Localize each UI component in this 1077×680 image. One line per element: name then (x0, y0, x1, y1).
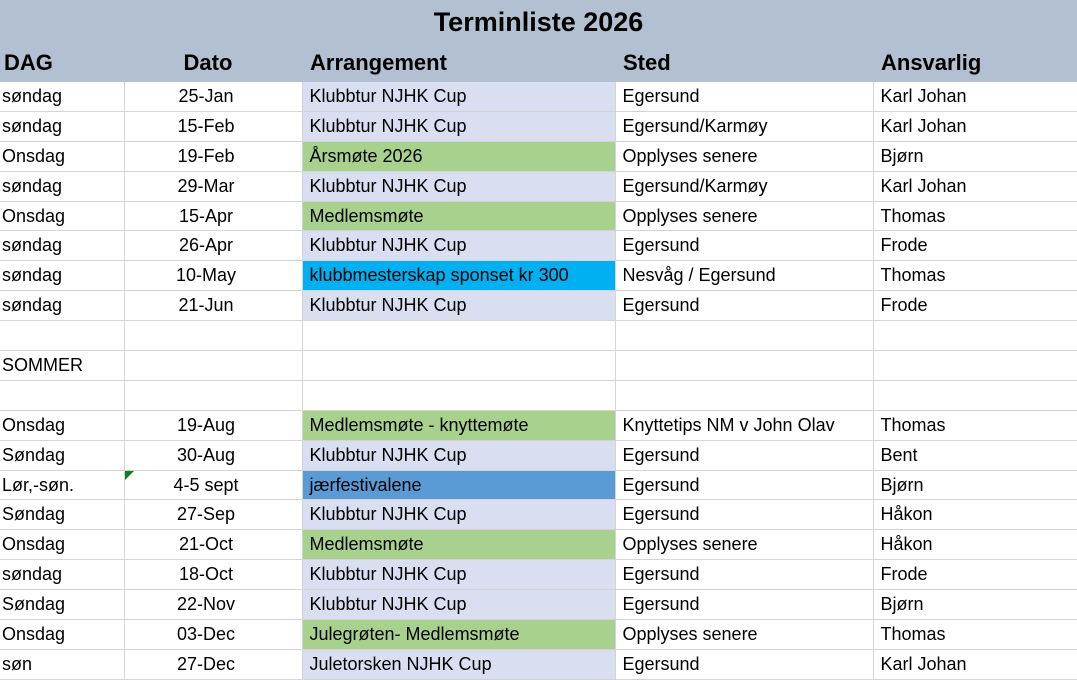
cell-arrangement[interactable]: Medlemsmøte (302, 530, 615, 560)
cell-dag[interactable]: søn (0, 649, 124, 679)
column-header-row: DAG Dato Arrangement Sted Ansvarlig (0, 46, 1077, 82)
table-row[interactable]: Onsdag19-AugMedlemsmøte - knyttemøteKnyt… (0, 410, 1077, 440)
cell-dato[interactable]: 30-Aug (124, 440, 302, 470)
table-row[interactable]: SOMMER (0, 351, 1077, 381)
column-header-ansvarlig[interactable]: Ansvarlig (873, 46, 1077, 82)
cell-ansvarlig[interactable]: Håkon (873, 500, 1077, 530)
cell-dag[interactable]: SOMMER (0, 351, 124, 381)
page-title: Terminliste 2026 (0, 0, 1077, 46)
table-row[interactable]: søndag21-JunKlubbtur NJHK CupEgersundFro… (0, 291, 1077, 321)
cell-dato[interactable]: 15-Apr (124, 201, 302, 231)
cell-dag[interactable]: Søndag (0, 500, 124, 530)
cell-dato[interactable]: 29-Mar (124, 171, 302, 201)
cell-sted[interactable]: Opplyses senere (615, 530, 873, 560)
column-header-dag[interactable]: DAG (0, 46, 124, 82)
cell-arrangement[interactable]: Medlemsmøte - knyttemøte (302, 410, 615, 440)
column-header-dato[interactable]: Dato (124, 46, 302, 82)
cell-dato[interactable]: 15-Feb (124, 111, 302, 141)
cell-dato[interactable]: 10-May (124, 261, 302, 291)
cell-ansvarlig[interactable]: Thomas (873, 261, 1077, 291)
cell-ansvarlig[interactable]: Håkon (873, 530, 1077, 560)
cell-sted[interactable] (615, 321, 873, 351)
cell-dag[interactable]: søndag (0, 231, 124, 261)
cell-dag[interactable]: søndag (0, 560, 124, 590)
cell-dag[interactable]: Onsdag (0, 410, 124, 440)
cell-dag[interactable]: Søndag (0, 590, 124, 620)
cell-sted[interactable]: Opplyses senere (615, 201, 873, 231)
cell-dato[interactable]: 19-Aug (124, 410, 302, 440)
table-row[interactable]: Søndag22-NovKlubbtur NJHK CupEgersundBjø… (0, 590, 1077, 620)
cell-ansvarlig[interactable]: Thomas (873, 201, 1077, 231)
cell-dato[interactable] (124, 351, 302, 381)
cell-sted[interactable]: Egersund (615, 231, 873, 261)
cell-dato[interactable]: 21-Jun (124, 291, 302, 321)
table-row[interactable]: Søndag30-AugKlubbtur NJHK CupEgersundBen… (0, 440, 1077, 470)
table-row[interactable]: Onsdag15-AprMedlemsmøteOpplyses senereTh… (0, 201, 1077, 231)
cell-arrangement[interactable]: Klubbtur NJHK Cup (302, 231, 615, 261)
column-header-sted[interactable]: Sted (615, 46, 873, 82)
cell-ansvarlig[interactable]: Thomas (873, 620, 1077, 650)
cell-arrangement[interactable]: Medlemsmøte (302, 201, 615, 231)
table-row[interactable]: Onsdag19-FebÅrsmøte 2026Opplyses senereB… (0, 141, 1077, 171)
cell-arrangement[interactable]: klubbmesterskap sponset kr 300 (302, 261, 615, 291)
cell-sted[interactable]: Egersund/Karmøy (615, 171, 873, 201)
cell-ansvarlig[interactable]: Bent (873, 440, 1077, 470)
cell-sted[interactable]: Egersund (615, 291, 873, 321)
cell-dag[interactable]: søndag (0, 291, 124, 321)
cell-sted[interactable] (615, 380, 873, 410)
table-row[interactable]: Søndag27-SepKlubbtur NJHK CupEgersundHåk… (0, 500, 1077, 530)
cell-arrangement[interactable]: Juletorsken NJHK Cup (302, 649, 615, 679)
cell-dato[interactable]: 26-Apr (124, 231, 302, 261)
cell-dato[interactable]: 19-Feb (124, 141, 302, 171)
cell-ansvarlig[interactable]: Bjørn (873, 590, 1077, 620)
cell-dag[interactable] (0, 321, 124, 351)
cell-dag[interactable]: søndag (0, 111, 124, 141)
cell-dato[interactable]: 22-Nov (124, 590, 302, 620)
table-row[interactable]: søn27-DecJuletorsken NJHK CupEgersundKar… (0, 649, 1077, 679)
cell-sted[interactable]: Opplyses senere (615, 620, 873, 650)
cell-arrangement[interactable]: jærfestivalene (302, 470, 615, 500)
spreadsheet-sheet: Terminliste 2026 DAG Dato Arrangement St… (0, 0, 1077, 658)
cell-arrangement[interactable]: Årsmøte 2026 (302, 141, 615, 171)
cell-sted[interactable] (615, 351, 873, 381)
cell-dato[interactable]: 27-Sep (124, 500, 302, 530)
cell-ansvarlig[interactable] (873, 351, 1077, 381)
table-row[interactable]: Onsdag03-DecJulegrøten- MedlemsmøteOpply… (0, 620, 1077, 650)
cell-sted[interactable]: Opplyses senere (615, 141, 873, 171)
cell-dato[interactable] (124, 380, 302, 410)
cell-dato[interactable]: 21-Oct (124, 530, 302, 560)
cell-arrangement[interactable]: Klubbtur NJHK Cup (302, 171, 615, 201)
table-row[interactable]: Lør,-søn.4-5 septjærfestivaleneEgersundB… (0, 470, 1077, 500)
cell-sted[interactable]: Egersund (615, 500, 873, 530)
cell-dag[interactable]: søndag (0, 261, 124, 291)
comment-marker-icon (125, 471, 134, 480)
cell-arrangement[interactable] (302, 351, 615, 381)
cell-sted[interactable]: Egersund (615, 82, 873, 111)
table-row[interactable]: søndag26-AprKlubbtur NJHK CupEgersundFro… (0, 231, 1077, 261)
cell-arrangement[interactable]: Julegrøten- Medlemsmøte (302, 620, 615, 650)
cell-dato[interactable]: 25-Jan (124, 82, 302, 111)
cell-sted[interactable]: Egersund (615, 649, 873, 679)
table-row[interactable]: søndag15-FebKlubbtur NJHK CupEgersund/Ka… (0, 111, 1077, 141)
cell-ansvarlig[interactable]: Bjørn (873, 470, 1077, 500)
cell-ansvarlig[interactable]: Thomas (873, 410, 1077, 440)
cell-ansvarlig[interactable]: Frode (873, 291, 1077, 321)
cell-dag[interactable]: Lør,-søn. (0, 470, 124, 500)
cell-sted[interactable]: Knyttetips NM v John Olav (615, 410, 873, 440)
cell-dato[interactable]: 18-Oct (124, 560, 302, 590)
cell-dag[interactable]: Onsdag (0, 530, 124, 560)
cell-sted[interactable]: Nesvåg / Egersund (615, 261, 873, 291)
table-row[interactable]: søndag18-OctKlubbtur NJHK CupEgersundFro… (0, 560, 1077, 590)
cell-ansvarlig[interactable]: Karl Johan (873, 649, 1077, 679)
title-row: Terminliste 2026 (0, 0, 1077, 46)
cell-arrangement[interactable]: Klubbtur NJHK Cup (302, 500, 615, 530)
cell-ansvarlig[interactable] (873, 380, 1077, 410)
cell-arrangement[interactable]: Klubbtur NJHK Cup (302, 560, 615, 590)
cell-arrangement[interactable]: Klubbtur NJHK Cup (302, 440, 615, 470)
cell-dag[interactable]: Søndag (0, 440, 124, 470)
table-row[interactable] (0, 321, 1077, 351)
table-row[interactable] (0, 380, 1077, 410)
table-row[interactable]: søndag29-MarKlubbtur NJHK CupEgersund/Ka… (0, 171, 1077, 201)
cell-dag[interactable]: Onsdag (0, 201, 124, 231)
cell-dato[interactable]: 03-Dec (124, 620, 302, 650)
table-row[interactable]: Onsdag21-OctMedlemsmøteOpplyses senereHå… (0, 530, 1077, 560)
table-row[interactable]: søndag25-JanKlubbtur NJHK CupEgersundKar… (0, 82, 1077, 111)
cell-dag[interactable]: Onsdag (0, 141, 124, 171)
table-row[interactable]: søndag10-Mayklubbmesterskap sponset kr 3… (0, 261, 1077, 291)
cell-ansvarlig[interactable]: Karl Johan (873, 171, 1077, 201)
cell-ansvarlig[interactable] (873, 321, 1077, 351)
cell-arrangement[interactable]: Klubbtur NJHK Cup (302, 291, 615, 321)
cell-arrangement[interactable] (302, 380, 615, 410)
cell-dag[interactable]: søndag (0, 82, 124, 111)
cell-ansvarlig[interactable]: Frode (873, 231, 1077, 261)
table-body: Terminliste 2026 DAG Dato Arrangement St… (0, 0, 1077, 679)
cell-arrangement[interactable]: Klubbtur NJHK Cup (302, 590, 615, 620)
cell-dato[interactable]: 4-5 sept (124, 470, 302, 500)
cell-sted[interactable]: Egersund (615, 560, 873, 590)
cell-ansvarlig[interactable]: Frode (873, 560, 1077, 590)
cell-dato[interactable]: 27-Dec (124, 649, 302, 679)
cell-arrangement[interactable]: Klubbtur NJHK Cup (302, 111, 615, 141)
cell-arrangement[interactable] (302, 321, 615, 351)
cell-dag[interactable] (0, 380, 124, 410)
cell-sted[interactable]: Egersund (615, 470, 873, 500)
column-header-arrangement[interactable]: Arrangement (302, 46, 615, 82)
cell-dag[interactable]: søndag (0, 171, 124, 201)
cell-ansvarlig[interactable]: Karl Johan (873, 111, 1077, 141)
terminliste-table: Terminliste 2026 DAG Dato Arrangement St… (0, 0, 1077, 680)
cell-ansvarlig[interactable]: Bjørn (873, 141, 1077, 171)
cell-dato[interactable] (124, 321, 302, 351)
cell-sted[interactable]: Egersund (615, 590, 873, 620)
cell-sted[interactable]: Egersund/Karmøy (615, 111, 873, 141)
cell-arrangement[interactable]: Klubbtur NJHK Cup (302, 82, 615, 111)
cell-sted[interactable]: Egersund (615, 440, 873, 470)
cell-dag[interactable]: Onsdag (0, 620, 124, 650)
cell-ansvarlig[interactable]: Karl Johan (873, 82, 1077, 111)
